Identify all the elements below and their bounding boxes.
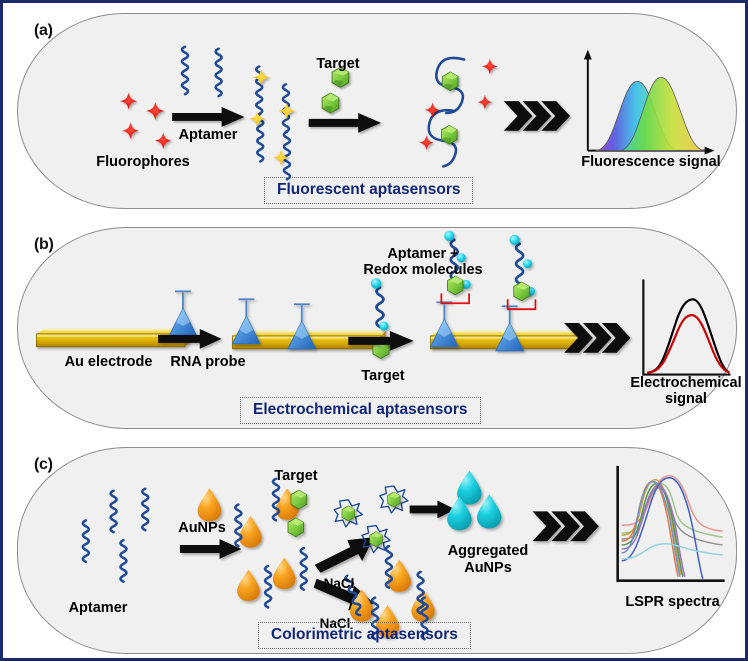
electrochemical-chart [643,279,730,374]
binding-bracket-group [441,293,535,309]
label-lspr-spectra: LSPR spectra [590,594,748,610]
label-target-c: Target [260,468,332,484]
label-target-a: Target [308,56,368,72]
fluorescence-chart [584,50,715,155]
chevron-arrow-b [564,323,630,353]
free-aptamer-group-c [83,489,148,582]
chevron-arrow-a [504,101,570,131]
target-group-c [288,490,307,536]
arrow-nacl-top [315,537,374,573]
aptamer-coated-aunp-group [235,479,306,608]
target-free-b [373,339,389,358]
label-aptamer-redox-2: Redox molecules [333,262,513,278]
label-aptamer-redox-1: Aptamer + [333,246,513,262]
panel-b-letter: (b) [34,236,54,254]
rna-probe-free [169,291,197,336]
label-rna-probe: RNA probe [158,354,258,370]
panel-electrochemical-aptasensors: (b) [17,227,737,429]
aptamer-target-complex [429,58,464,167]
arrow-target [309,113,381,133]
label-aggregated-1: Aggregated [418,543,558,559]
caption-colorimetric-aptasensors: Colorimetric aptasensors [258,622,471,649]
label-aptamer-c: Aptamer [48,600,148,616]
au-electrode-with-probes [232,331,385,349]
arrow-rna-probe [158,329,221,349]
label-nacl-top: NaCl [312,576,366,591]
panel-colorimetric-aptasensors: (c) [17,447,737,654]
label-electrochemical-signal-1: Electrochemical [606,375,748,391]
chevron-arrow-c [532,511,598,541]
arrow-target-b [348,331,413,351]
label-fluorescence-signal: Fluorescence signal [556,154,746,170]
aggregated-aunp-group [447,471,501,531]
arrow-aggregated [410,500,456,518]
free-aptamer-group [182,47,222,96]
arrow-aptamer [172,107,244,127]
aunp-droplet [198,489,222,522]
aptamer-redox-free [371,278,389,330]
au-electrode-bound [430,331,583,349]
label-fluorophores: Fluorophores [88,154,198,170]
arrow-aunps [180,539,241,559]
caption-fluorescent-aptasensors: Fluorescent aptasensors [264,177,473,204]
label-aggregated-2: AuNPs [418,560,558,576]
panel-fluorescent-aptasensors: (a) [17,13,737,209]
lspr-chart [618,466,725,581]
label-electrochemical-signal-2: signal [606,391,748,407]
target-bound-burst-group [334,486,408,553]
au-electrode-bare [36,329,189,347]
label-aptamer: Aptamer [168,127,248,143]
target-group-a [322,67,349,113]
panel-a-letter: (a) [34,22,53,40]
label-target-b: Target [352,368,414,384]
labelled-aptamer-group [249,66,295,179]
fluorophore-group [120,93,172,149]
panel-c-letter: (c) [34,456,53,474]
figure-root: (a) [0,0,748,661]
caption-electrochemical-aptasensors: Electrochemical aptasensors [240,397,481,424]
label-aunps: AuNPs [166,520,238,536]
